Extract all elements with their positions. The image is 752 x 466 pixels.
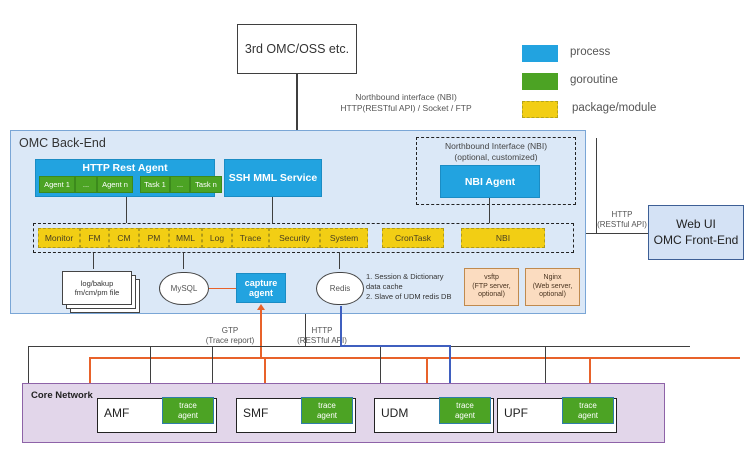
legend-item-package-module: package/module xyxy=(522,100,742,122)
trace-agent-upf-line2: agent xyxy=(578,411,598,421)
udm-label: UDM xyxy=(381,406,408,420)
task-ellipsis-goroutine: ... xyxy=(170,176,190,193)
connector-modules-to-files xyxy=(93,253,94,269)
vsftp-server-box[interactable]: vsftp (FTP server, optional) xyxy=(464,268,519,306)
webui-http-line2: (RESTful API) xyxy=(592,220,652,230)
legend-swatch-process xyxy=(522,45,558,62)
gtp-line1: GTP xyxy=(195,326,265,336)
nbi-caption-line1: Northbound interface (NBI) xyxy=(300,92,512,103)
nginx-name: Nginx xyxy=(544,274,562,283)
trace-agent-smf-line2: agent xyxy=(317,411,337,421)
nbi-group-caption: Northbound Interface (NBI) (optional, cu… xyxy=(420,141,572,163)
module-monitor[interactable]: Monitor xyxy=(38,228,80,248)
vsftp-desc-line1: (FTP server, xyxy=(472,283,510,292)
module-nbi[interactable]: NBI xyxy=(461,228,545,248)
gtp-link-caption: GTP (Trace report) xyxy=(195,326,265,347)
connector-ssh-to-modules xyxy=(272,197,273,223)
mysql-database[interactable]: MySQL xyxy=(159,272,209,305)
connector-capture-agent-vertical xyxy=(260,310,262,357)
webui-http-line1: HTTP xyxy=(592,210,652,220)
http-line1: HTTP xyxy=(286,326,358,336)
redis-database[interactable]: Redis xyxy=(316,272,364,305)
legend-label-goroutine: goroutine xyxy=(570,74,618,86)
nbi-caption-line2: HTTP(RESTful API) / Socket / FTP xyxy=(300,103,512,114)
http-rest-agent-goroutines: Agent 1 ... Agent n Task 1 ... Task n xyxy=(39,176,211,193)
task-1-goroutine[interactable]: Task 1 xyxy=(140,176,170,193)
connector-redis-http-vertical xyxy=(305,314,306,346)
black-drop-udm xyxy=(380,346,381,387)
modules-row: Monitor FM CM PM MML Log Trace Security … xyxy=(38,228,569,248)
connector-backend-to-webui xyxy=(586,233,648,234)
core-network-title: Core Network xyxy=(31,390,93,401)
log-backup-files-label: log/bakup fm/cm/pm file xyxy=(52,272,142,304)
third-party-omc-oss-label: 3rd OMC/OSS etc. xyxy=(245,42,349,56)
blue-bus-to-udm xyxy=(340,345,450,347)
trace-agent-udm-line1: trace xyxy=(456,401,474,411)
northbound-interface-caption: Northbound interface (NBI) HTTP(RESTful … xyxy=(300,92,512,115)
black-drop-smf xyxy=(212,346,213,387)
third-party-omc-oss-box: 3rd OMC/OSS etc. xyxy=(237,24,357,74)
trace-agent-amf-line2: agent xyxy=(178,411,198,421)
trace-agent-upf-line1: trace xyxy=(579,401,597,411)
module-security[interactable]: Security xyxy=(269,228,320,248)
connector-mysql-to-capture-agent xyxy=(209,288,236,289)
module-trace[interactable]: Trace xyxy=(232,228,269,248)
agent-n-goroutine[interactable]: Agent n xyxy=(97,176,133,193)
connector-top-to-backend xyxy=(296,74,298,130)
connector-task-to-modules xyxy=(126,197,127,223)
trace-agent-udm[interactable]: trace agent xyxy=(439,397,491,424)
ssh-mml-service-box[interactable]: SSH MML Service xyxy=(224,159,322,197)
nbi-group-line2: (optional, customized) xyxy=(454,152,537,163)
capture-agent-line2: agent xyxy=(249,288,273,298)
capture-agent-arrowhead-icon xyxy=(257,304,265,310)
web-ui-frontend-box[interactable]: Web UI OMC Front-End xyxy=(648,205,744,260)
module-pm[interactable]: PM xyxy=(139,228,169,248)
task-n-goroutine[interactable]: Task n xyxy=(190,176,222,193)
omc-backend-title: OMC Back-End xyxy=(19,136,106,150)
http-link-caption: HTTP (RESTful API) xyxy=(286,326,358,347)
nginx-desc-line2: optional) xyxy=(539,291,566,300)
module-mml[interactable]: MML xyxy=(169,228,202,248)
nginx-server-box[interactable]: Nginx (Web server, optional) xyxy=(525,268,580,306)
trace-agent-amf-line1: trace xyxy=(179,401,197,411)
agent-1-goroutine[interactable]: Agent 1 xyxy=(39,176,75,193)
nbi-group-line1: Northbound Interface (NBI) xyxy=(445,141,547,152)
legend-item-process: process xyxy=(522,44,742,66)
trace-agent-smf-line1: trace xyxy=(318,401,336,411)
connector-redis-to-udm xyxy=(340,306,342,346)
legend-swatch-goroutine xyxy=(522,73,558,90)
legend-label-package-module: package/module xyxy=(572,102,656,114)
nbi-agent-box[interactable]: NBI Agent xyxy=(440,165,540,198)
module-cm[interactable]: CM xyxy=(109,228,139,248)
files-line2: fm/cm/pm file xyxy=(75,288,120,297)
black-drop-amf-inner xyxy=(150,346,151,387)
webui-line1: Web UI xyxy=(676,217,716,233)
capture-agent-box[interactable]: capture agent xyxy=(236,273,286,303)
module-log[interactable]: Log xyxy=(202,228,232,248)
files-line1: log/bakup xyxy=(81,279,114,288)
webui-line2: OMC Front-End xyxy=(654,233,739,249)
vsftp-desc-line2: optional) xyxy=(478,291,505,300)
connector-modules-to-redis xyxy=(339,253,340,269)
legend-label-process: process xyxy=(570,46,610,58)
upf-label: UPF xyxy=(504,406,528,420)
module-crontask[interactable]: CronTask xyxy=(382,228,444,248)
webui-http-caption: HTTP (RESTful API) xyxy=(592,210,652,231)
legend-swatch-package-module xyxy=(522,101,558,118)
amf-label: AMF xyxy=(104,406,129,420)
vsftp-name: vsftp xyxy=(484,274,499,283)
trace-agent-amf[interactable]: trace agent xyxy=(162,397,214,424)
connector-modules-to-mysql xyxy=(183,253,184,269)
trace-agent-smf[interactable]: trace agent xyxy=(301,397,353,424)
legend: process goroutine package/module xyxy=(522,44,742,122)
blue-drop-udm xyxy=(449,345,451,387)
trace-agent-upf[interactable]: trace agent xyxy=(562,397,614,424)
module-system[interactable]: System xyxy=(320,228,368,248)
capture-agent-line1: capture xyxy=(245,278,278,288)
trace-agent-udm-line2: agent xyxy=(455,411,475,421)
agent-ellipsis-goroutine: ... xyxy=(75,176,97,193)
smf-label: SMF xyxy=(243,406,268,420)
nginx-desc-line1: (Web server, xyxy=(533,283,573,292)
connector-nbi-agent-to-modules xyxy=(489,198,490,223)
http-rest-agent-title: HTTP Rest Agent xyxy=(36,160,214,176)
black-drop-upf xyxy=(545,346,546,387)
orange-bus-horizontal xyxy=(89,357,740,359)
module-fm[interactable]: FM xyxy=(80,228,109,248)
legend-item-goroutine: goroutine xyxy=(522,72,742,94)
